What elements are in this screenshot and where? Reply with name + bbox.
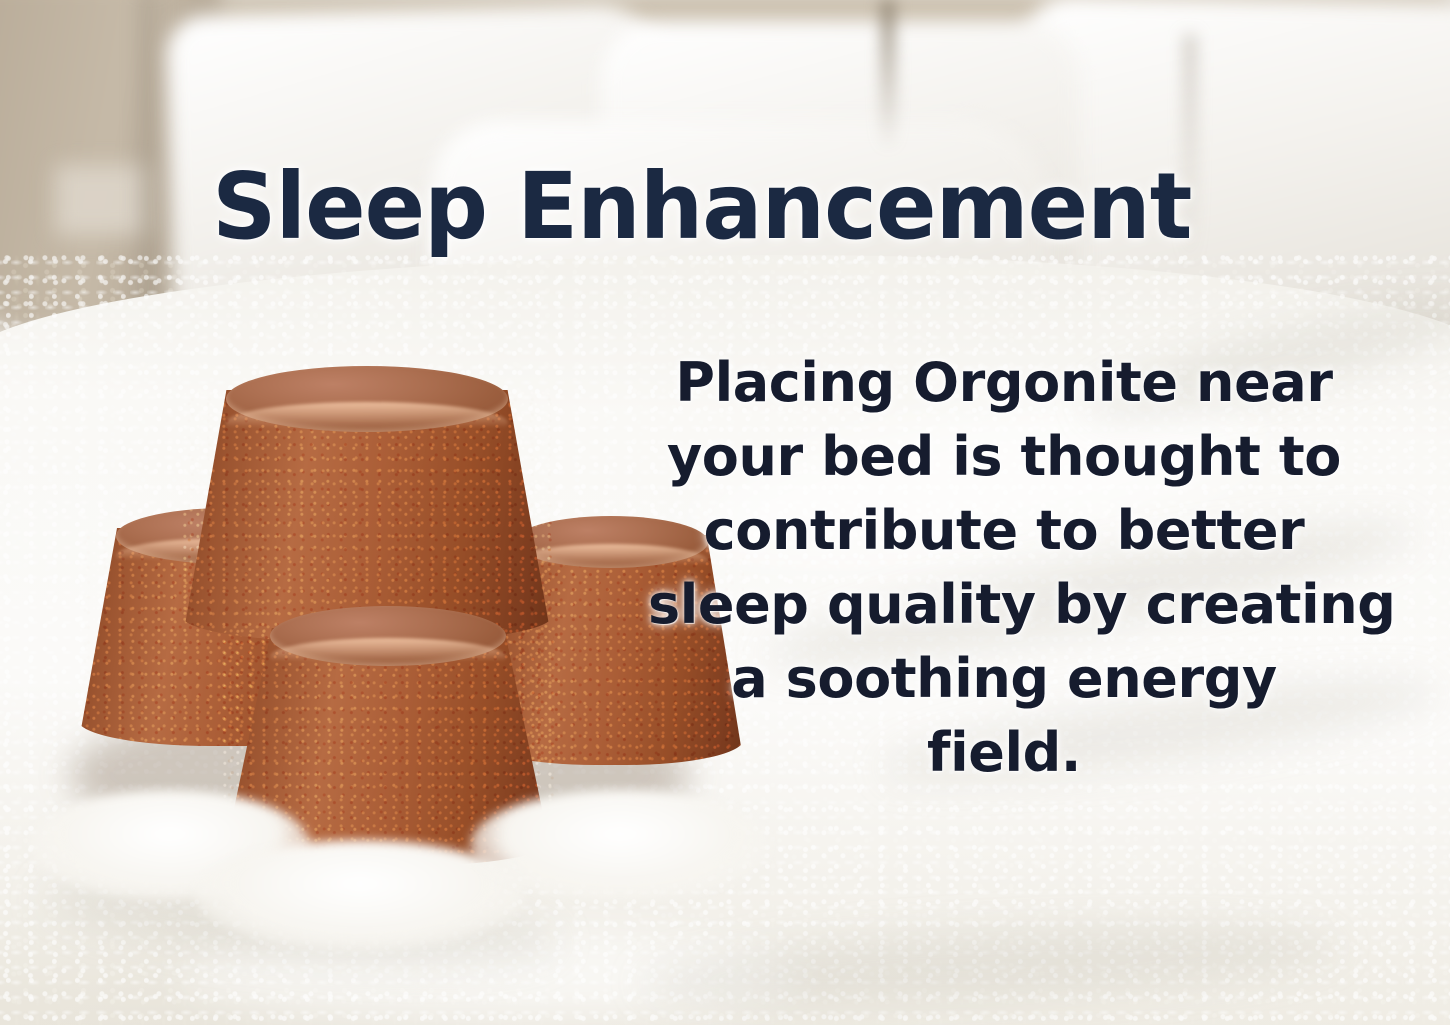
orgonite-puck: [182, 390, 552, 642]
page-title-text: Sleep Enhancement: [212, 161, 1191, 253]
page-title: Sleep Enhancement: [0, 161, 1450, 253]
body-line: sleep quality by creating: [648, 568, 1360, 642]
body-line: Placing Orgonite near: [648, 346, 1360, 420]
fabric-fluff: [470, 790, 770, 900]
puck-rim: [226, 402, 508, 444]
body-line: your bed is thought to: [648, 420, 1360, 494]
body-line: contribute to better: [648, 494, 1360, 568]
puck-rim: [270, 638, 506, 676]
body-copy: Placing Orgonite near your bed is though…: [648, 346, 1360, 790]
body-line: a soothing energy: [648, 642, 1360, 716]
promo-graphic: Sleep Enhancement Placing Orgonite near …: [0, 0, 1450, 1025]
body-line: field.: [648, 716, 1360, 790]
